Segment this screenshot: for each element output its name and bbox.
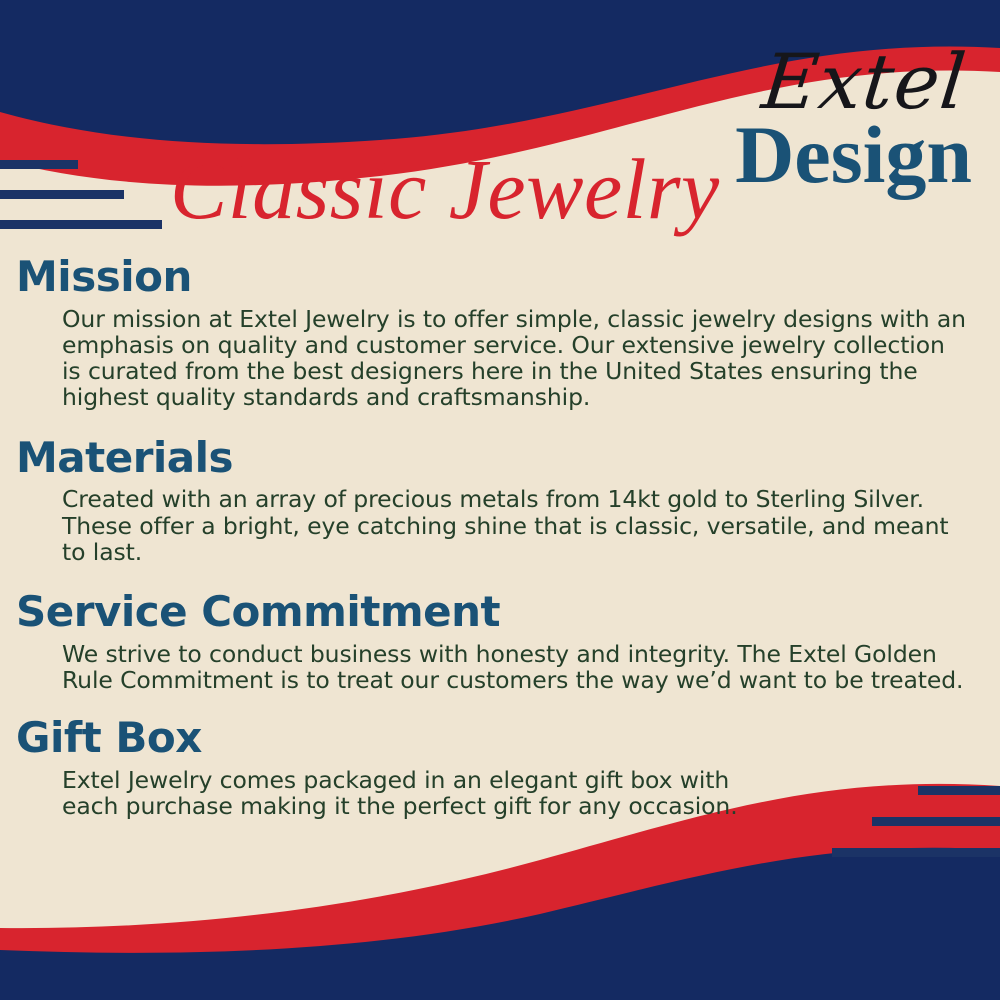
section-service-commitment: Service Commitment We strive to conduct … [0, 587, 1000, 693]
content-sections: Mission Our mission at Extel Jewelry is … [0, 252, 1000, 820]
brand-script-wordmark: Extel [731, 44, 970, 120]
brand-serif-wordmark: Design [735, 114, 972, 196]
page-title: Classic Jewelry [170, 146, 720, 232]
section-gift-box: Gift Box Extel Jewelry comes packaged in… [0, 713, 1000, 819]
brand-logo: Extel Design [735, 44, 972, 196]
section-materials: Materials Created with an array of preci… [0, 433, 1000, 565]
section-body-service-commitment: We strive to conduct business with hones… [62, 641, 970, 694]
section-heading-service-commitment: Service Commitment [16, 587, 1000, 637]
section-heading-materials: Materials [16, 433, 1000, 483]
rule-line-long [832, 848, 1000, 857]
section-heading-gift-box: Gift Box [16, 713, 1000, 763]
section-heading-mission: Mission [16, 252, 1000, 302]
poster-canvas: Extel Design Classic Jewelry Mission Our… [0, 0, 1000, 1000]
left-rule-decoration [0, 160, 162, 250]
section-body-gift-box: Extel Jewelry comes packaged in an elega… [62, 767, 750, 820]
rule-line-medium [0, 190, 124, 199]
section-mission: Mission Our mission at Extel Jewelry is … [0, 252, 1000, 411]
rule-line-short [0, 160, 78, 169]
rule-line-long [0, 220, 162, 229]
section-body-mission: Our mission at Extel Jewelry is to offer… [62, 306, 970, 411]
section-body-materials: Created with an array of precious metals… [62, 486, 970, 565]
